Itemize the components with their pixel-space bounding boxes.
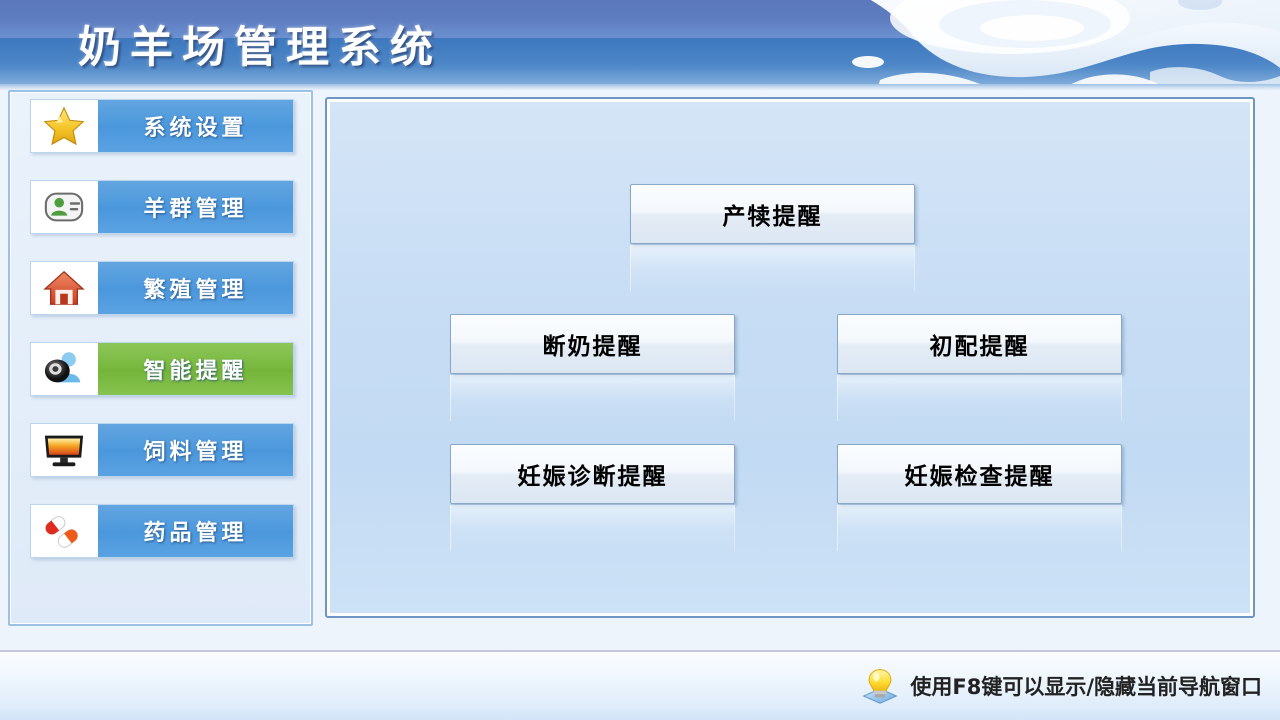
main-content-panel: 产犊提醒 断奶提醒 初配提醒 妊娠诊断提醒 妊娠检查提醒 — [325, 97, 1255, 618]
star-icon — [31, 100, 97, 152]
navigation-sidebar: 系统设置 羊群管理 — [8, 90, 313, 626]
button-first-breeding-reminder[interactable]: 初配提醒 — [837, 314, 1122, 374]
button-reflection — [837, 375, 1122, 421]
status-bar-content: 使用F8键可以显示/隐藏当前导航窗口 — [860, 666, 1262, 706]
sidebar-item-system-settings[interactable]: 系统设置 — [30, 99, 294, 153]
app-header: 奶羊场管理系统 — [0, 0, 1280, 84]
status-bar-hint-text: 使用F8键可以显示/隐藏当前导航窗口 — [910, 671, 1262, 701]
sidebar-item-label: 繁殖管理 — [97, 262, 293, 314]
group-people-icon — [31, 181, 97, 233]
button-reflection — [837, 505, 1122, 551]
button-pregnancy-diagnosis-reminder[interactable]: 妊娠诊断提醒 — [450, 444, 735, 504]
sidebar-item-label: 智能提醒 — [97, 343, 293, 395]
button-calving-reminder[interactable]: 产犊提醒 — [630, 184, 915, 244]
sidebar-item-label: 系统设置 — [97, 100, 293, 152]
button-reflection — [630, 245, 915, 291]
button-reflection — [450, 505, 735, 551]
sidebar-item-label: 药品管理 — [97, 505, 293, 557]
sidebar-item-flock-management[interactable]: 羊群管理 — [30, 180, 294, 234]
sidebar-item-label: 羊群管理 — [97, 181, 293, 233]
pills-icon — [31, 505, 97, 557]
button-weaning-reminder[interactable]: 断奶提醒 — [450, 314, 735, 374]
sidebar-item-breeding-management[interactable]: 繁殖管理 — [30, 261, 294, 315]
sidebar-item-label: 饲料管理 — [97, 424, 293, 476]
application-window: 奶羊场管理系统 系统设置 — [0, 0, 1280, 720]
milk-splash-icon — [680, 0, 1280, 84]
sidebar-item-medicine-management[interactable]: 药品管理 — [30, 504, 294, 558]
button-pregnancy-check-reminder[interactable]: 妊娠检查提醒 — [837, 444, 1122, 504]
app-title: 奶羊场管理系统 — [78, 13, 442, 75]
webcam-person-icon — [31, 343, 97, 395]
sidebar-item-feed-management[interactable]: 饲料管理 — [30, 423, 294, 477]
status-bar: 使用F8键可以显示/隐藏当前导航窗口 — [0, 650, 1280, 720]
sidebar-item-smart-reminder[interactable]: 智能提醒 — [30, 342, 294, 396]
house-icon — [31, 262, 97, 314]
button-reflection — [450, 375, 735, 421]
monitor-icon — [31, 424, 97, 476]
lightbulb-icon — [860, 666, 900, 706]
